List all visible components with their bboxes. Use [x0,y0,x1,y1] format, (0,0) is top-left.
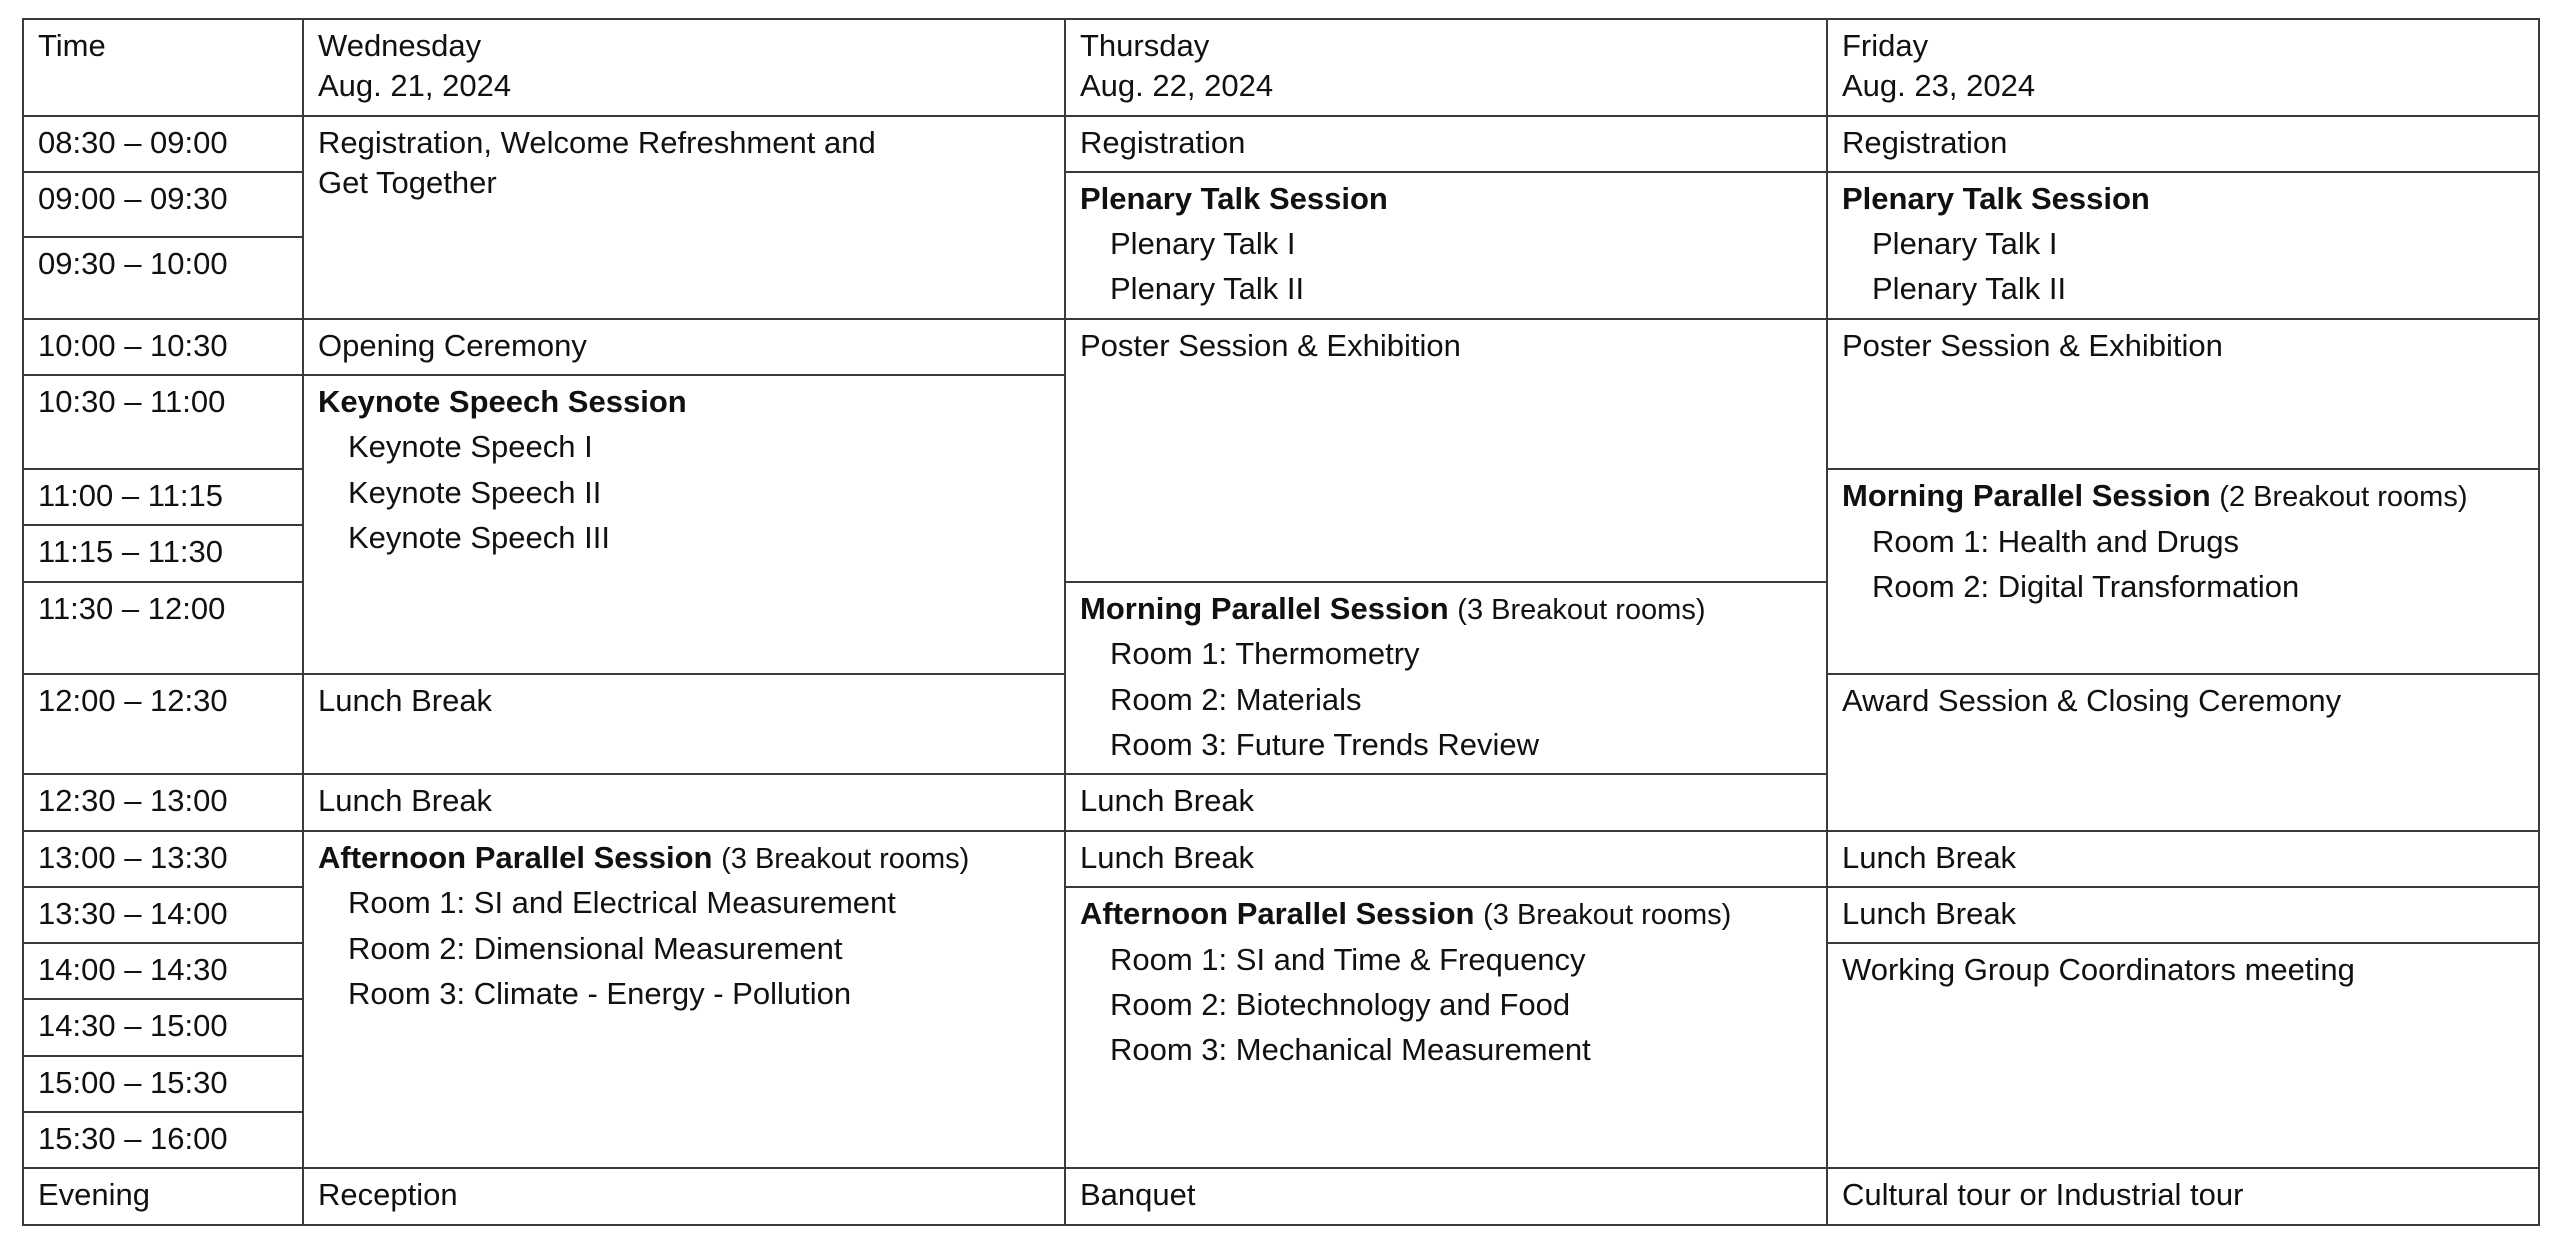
header-time-label: Time [38,26,290,66]
wed-evening-cell: Reception [303,1168,1065,1224]
time-cell-1115: 11:15 – 11:30 [23,525,303,581]
table-row: 08:30 – 09:00 Registration, Welcome Refr… [23,116,2539,172]
fri-registration-cell: Registration [1827,116,2539,172]
column-header-friday: Friday Aug. 23, 2024 [1827,19,2539,116]
fri-working-group-cell: Working Group Coordinators meeting [1827,943,2539,1168]
time-cell-0830: 08:30 – 09:00 [23,116,303,172]
time-cell-1300: 13:00 – 13:30 [23,831,303,887]
wed-afternoon-title: Afternoon Parallel Session (3 Breakout r… [318,838,1052,879]
thu-afternoon-room-2: Room 2: Biotechnology and Food [1080,985,1814,1025]
time-cell-0900: 09:00 – 09:30 [23,172,303,237]
thu-lunch-1300-cell: Lunch Break [1065,831,1827,887]
thu-afternoon-rooms-count: (3 Breakout rooms) [1483,899,1731,931]
fri-morning-parallel-cell: Morning Parallel Session (2 Breakout roo… [1827,469,2539,674]
time-cell-1130: 11:30 – 12:00 [23,582,303,674]
time-cell-1030: 10:30 – 11:00 [23,375,303,469]
thu-plenary-title: Plenary Talk Session [1080,179,1814,219]
wed-lunch-1200-cell: Lunch Break [303,674,1065,775]
fri-morning-title: Morning Parallel Session (2 Breakout roo… [1842,476,2526,517]
column-header-thursday: Thursday Aug. 22, 2024 [1065,19,1827,116]
thu-lunch-1230-cell: Lunch Break [1065,774,1827,830]
thu-morning-parallel-cell: Morning Parallel Session (3 Breakout roo… [1065,582,1827,775]
time-cell-1000: 10:00 – 10:30 [23,319,303,375]
fri-poster-cell: Poster Session & Exhibition [1827,319,2539,469]
wed-afternoon-room-1: Room 1: SI and Electrical Measurement [318,883,1052,923]
header-wednesday-date: Aug. 21, 2024 [318,66,1052,106]
fri-plenary-talk-1: Plenary Talk I [1842,224,2526,264]
wed-afternoon-title-main: Afternoon Parallel Session [318,840,713,875]
thu-registration-cell: Registration [1065,116,1827,172]
thu-plenary-talk-1: Plenary Talk I [1080,224,1814,264]
time-cell-1200: 12:00 – 12:30 [23,674,303,775]
wed-keynote-1: Keynote Speech I [318,427,1052,467]
thu-plenary-cell: Plenary Talk Session Plenary Talk I Plen… [1065,172,1827,319]
wed-lunch-1230-cell: Lunch Break [303,774,1065,830]
fri-plenary-talk-2: Plenary Talk II [1842,269,2526,309]
time-cell-1230: 12:30 – 13:00 [23,774,303,830]
fri-lunch-1330-cell: Lunch Break [1827,887,2539,943]
fri-morning-room-2: Room 2: Digital Transformation [1842,567,2526,607]
time-cell-1430: 14:30 – 15:00 [23,999,303,1055]
wed-afternoon-rooms-count: (3 Breakout rooms) [721,843,969,875]
thu-poster-cell: Poster Session & Exhibition [1065,319,1827,582]
table-row: 10:00 – 10:30 Opening Ceremony Poster Se… [23,319,2539,375]
thu-afternoon-room-1: Room 1: SI and Time & Frequency [1080,940,1814,980]
thu-afternoon-title-main: Afternoon Parallel Session [1080,896,1475,931]
time-cell-1530: 15:30 – 16:00 [23,1112,303,1168]
thu-plenary-talk-2: Plenary Talk II [1080,269,1814,309]
wed-keynote-title: Keynote Speech Session [318,382,1052,422]
fri-morning-rooms-count: (2 Breakout rooms) [2219,481,2467,513]
time-cell-1400: 14:00 – 14:30 [23,943,303,999]
thu-morning-room-1: Room 1: Thermometry [1080,634,1814,674]
wed-keynote-2: Keynote Speech II [318,473,1052,513]
fri-plenary-cell: Plenary Talk Session Plenary Talk I Plen… [1827,172,2539,319]
header-row: Time Wednesday Aug. 21, 2024 Thursday Au… [23,19,2539,116]
thu-morning-room-3: Room 3: Future Trends Review [1080,725,1814,765]
column-header-wednesday: Wednesday Aug. 21, 2024 [303,19,1065,116]
fri-morning-room-1: Room 1: Health and Drugs [1842,522,2526,562]
time-cell-1100: 11:00 – 11:15 [23,469,303,525]
wed-afternoon-room-2: Room 2: Dimensional Measurement [318,929,1052,969]
time-cell-1330: 13:30 – 14:00 [23,887,303,943]
header-wednesday-day: Wednesday [318,26,1052,66]
table-row: 13:00 – 13:30 Afternoon Parallel Session… [23,831,2539,887]
header-thursday-day: Thursday [1080,26,1814,66]
fri-lunch-1300-cell: Lunch Break [1827,831,2539,887]
fri-plenary-title: Plenary Talk Session [1842,179,2526,219]
thu-morning-title-main: Morning Parallel Session [1080,591,1449,626]
time-cell-1500: 15:00 – 15:30 [23,1056,303,1112]
table-header: Time Wednesday Aug. 21, 2024 Thursday Au… [23,19,2539,116]
thu-afternoon-title: Afternoon Parallel Session (3 Breakout r… [1080,894,1814,935]
thu-morning-rooms-count: (3 Breakout rooms) [1457,594,1705,626]
time-cell-evening: Evening [23,1168,303,1224]
fri-morning-title-main: Morning Parallel Session [1842,478,2211,513]
wed-opening-ceremony-cell: Opening Ceremony [303,319,1065,375]
thu-afternoon-parallel-cell: Afternoon Parallel Session (3 Breakout r… [1065,887,1827,1168]
table-body: 08:30 – 09:00 Registration, Welcome Refr… [23,116,2539,1225]
time-cell-0930: 09:30 – 10:00 [23,237,303,319]
table-row: Evening Reception Banquet Cultural tour … [23,1168,2539,1224]
wed-registration-line1: Registration, Welcome Refreshment and [318,123,1052,163]
thu-evening-cell: Banquet [1065,1168,1827,1224]
header-friday-day: Friday [1842,26,2526,66]
wed-keynote-3: Keynote Speech III [318,518,1052,558]
fri-evening-cell: Cultural tour or Industrial tour [1827,1168,2539,1224]
thu-morning-room-2: Room 2: Materials [1080,680,1814,720]
wed-afternoon-room-3: Room 3: Climate - Energy - Pollution [318,974,1052,1014]
wed-registration-cell: Registration, Welcome Refreshment and Ge… [303,116,1065,319]
header-friday-date: Aug. 23, 2024 [1842,66,2526,106]
schedule-sheet: Time Wednesday Aug. 21, 2024 Thursday Au… [0,0,2560,1226]
conference-schedule-table: Time Wednesday Aug. 21, 2024 Thursday Au… [22,18,2540,1226]
fri-award-cell: Award Session & Closing Ceremony [1827,674,2539,831]
thu-morning-title: Morning Parallel Session (3 Breakout roo… [1080,589,1814,630]
wed-keynote-cell: Keynote Speech Session Keynote Speech I … [303,375,1065,674]
header-thursday-date: Aug. 22, 2024 [1080,66,1814,106]
wed-registration-line2: Get Together [318,163,1052,203]
column-header-time: Time [23,19,303,116]
thu-afternoon-room-3: Room 3: Mechanical Measurement [1080,1030,1814,1070]
wed-afternoon-parallel-cell: Afternoon Parallel Session (3 Breakout r… [303,831,1065,1169]
